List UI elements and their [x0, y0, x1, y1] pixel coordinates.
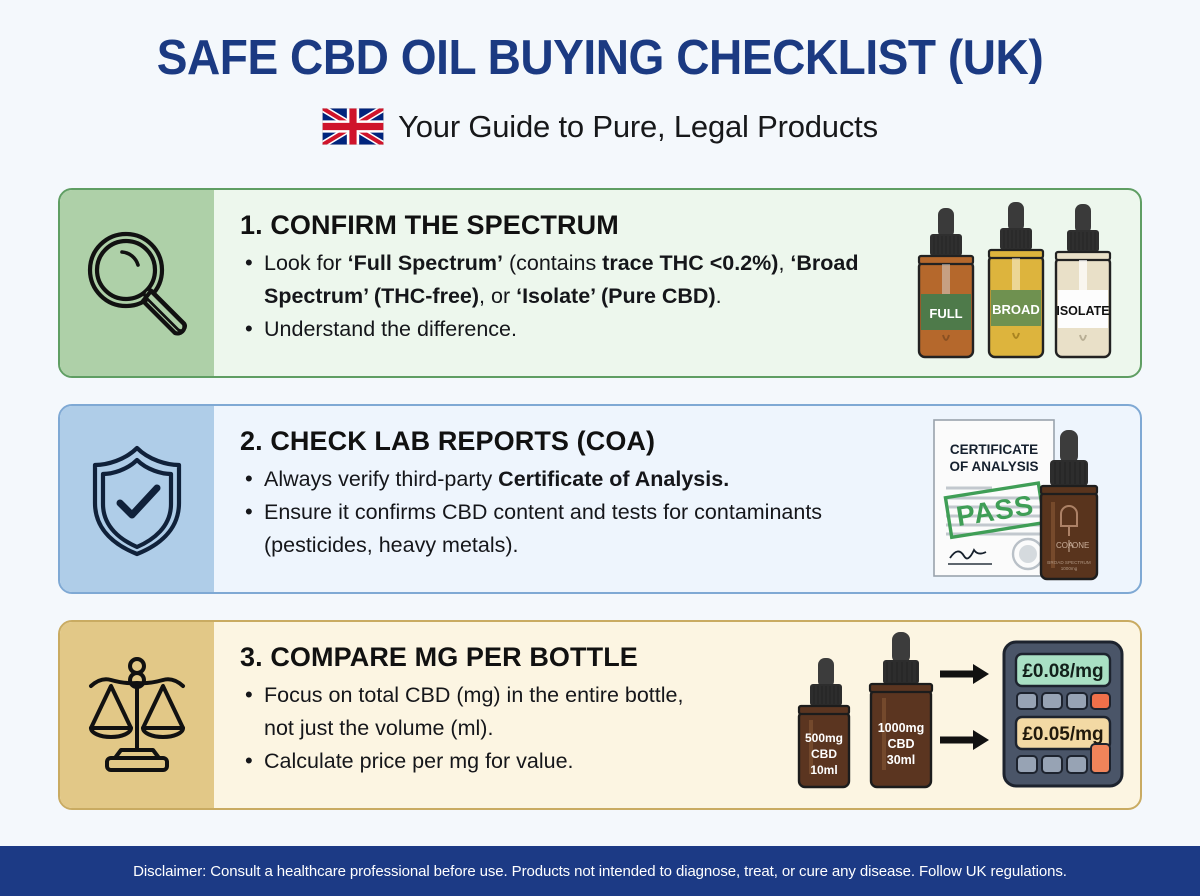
card-2-artwork-certificate: CERTIFICATE OF ANALYSIS PASS — [920, 406, 1140, 592]
svg-text:£0.05/mg: £0.05/mg — [1022, 724, 1103, 745]
card-3-icon-panel — [60, 622, 214, 808]
bullet-text: Ensure it confirms CBD content and tests… — [264, 500, 822, 557]
infographic-page: SAFE CBD OIL BUYING CHECKLIST (UK) Your … — [0, 0, 1200, 896]
svg-text:FULL: FULL — [929, 306, 962, 321]
bottle-1000mg: 1000mg CBD 30ml — [870, 632, 932, 787]
header: SAFE CBD OIL BUYING CHECKLIST (UK) Your … — [0, 0, 1200, 145]
svg-text:BROAD SPECTRUM: BROAD SPECTRUM — [1047, 560, 1091, 565]
arrow-right-icon — [940, 730, 989, 750]
bottle-full: FULL — [919, 208, 973, 357]
list-item: Ensure it confirms CBD content and tests… — [240, 496, 840, 562]
balance-scale-icon — [77, 652, 197, 778]
list-item: Look for ‘Full Spectrum’ (contains trace… — [240, 247, 900, 313]
bottle-broad: BROAD — [989, 202, 1043, 357]
bullet-text: Look for ‘Full Spectrum’ (contains trace… — [264, 251, 858, 308]
svg-text:1000mg: 1000mg — [1061, 566, 1078, 571]
card-2-icon-panel — [60, 406, 214, 592]
page-subtitle: Your Guide to Pure, Legal Products — [398, 109, 878, 145]
bullet-text: Focus on total CBD (mg) in the entire bo… — [264, 683, 683, 740]
card-3-artwork-price-comparison: 500mg CBD 10ml 1000mg CBD 30ml — [780, 622, 1140, 808]
card-2-body: 2. CHECK LAB REPORTS (COA) Always verify… — [214, 406, 1140, 592]
svg-text:BROAD: BROAD — [992, 302, 1040, 317]
certificate-document: CERTIFICATE OF ANALYSIS PASS — [934, 420, 1054, 576]
svg-text:10ml: 10ml — [810, 763, 837, 777]
bullet-text: Calculate price per mg for value. — [264, 749, 574, 773]
svg-text:CBD: CBD — [887, 737, 914, 751]
svg-text:£0.08/mg: £0.08/mg — [1022, 661, 1103, 682]
card-1-artwork-three-bottles: FULL BROAD — [910, 190, 1140, 376]
subtitle-row: Your Guide to Pure, Legal Products — [0, 108, 1200, 145]
list-item: Focus on total CBD (mg) in the entire bo… — [240, 679, 710, 745]
svg-text:CBD: CBD — [811, 747, 837, 761]
svg-text:OF ANALYSIS: OF ANALYSIS — [949, 459, 1038, 474]
shield-check-icon — [81, 440, 193, 558]
checklist-card-3: 3. COMPARE MG PER BOTTLE Focus on total … — [58, 620, 1142, 810]
arrow-right-icon — [940, 664, 989, 684]
bottle-isolate: ISOLATE — [1056, 204, 1110, 357]
svg-text:ONE: ONE — [1072, 541, 1089, 550]
footer-disclaimer-bar: Disclaimer: Consult a healthcare profess… — [0, 846, 1200, 896]
bullet-text: Always verify third-party Certificate of… — [264, 467, 729, 491]
checklist-card-2: 2. CHECK LAB REPORTS (COA) Always verify… — [58, 404, 1142, 594]
svg-text:CERTIFICATE: CERTIFICATE — [950, 442, 1038, 457]
svg-text:500mg: 500mg — [805, 731, 843, 745]
bottle-500mg: 500mg CBD 10ml — [799, 658, 849, 787]
card-1-icon-panel — [60, 190, 214, 376]
page-title: SAFE CBD OIL BUYING CHECKLIST (UK) — [36, 30, 1164, 86]
svg-text:30ml: 30ml — [887, 753, 916, 767]
card-1-body: 1. CONFIRM THE SPECTRUM Look for ‘Full S… — [214, 190, 1140, 376]
calculator-icon: £0.08/mg £0.05/mg — [1004, 642, 1122, 786]
bullet-text: Understand the difference. — [264, 317, 517, 341]
magnifying-glass-icon — [78, 224, 196, 342]
svg-text:ISOLATE: ISOLATE — [1056, 304, 1109, 318]
checklist-card-1: 1. CONFIRM THE SPECTRUM Look for ‘Full S… — [58, 188, 1142, 378]
uk-flag-icon — [322, 108, 384, 145]
disclaimer-text: Disclaimer: Consult a healthcare profess… — [133, 863, 1067, 880]
card-3-body: 3. COMPARE MG PER BOTTLE Focus on total … — [214, 622, 1140, 808]
svg-text:1000mg: 1000mg — [878, 721, 925, 735]
